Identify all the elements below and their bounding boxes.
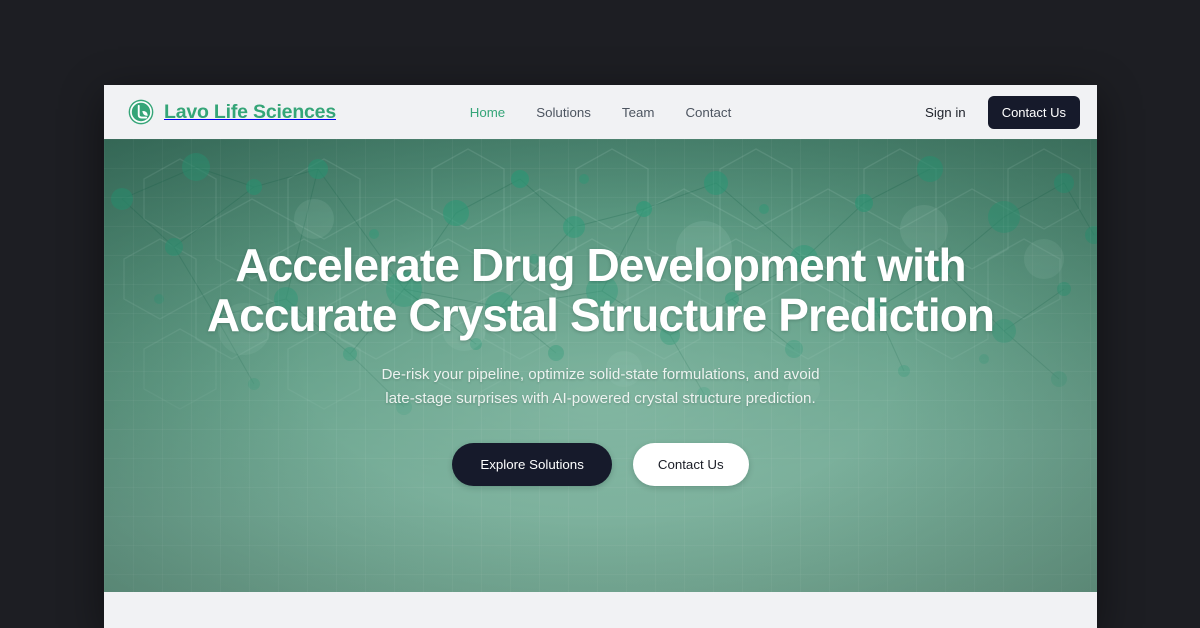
website-preview-card: Lavo Life Sciences Home Solutions Team C… xyxy=(104,85,1097,628)
hero-contact-us-button[interactable]: Contact Us xyxy=(633,443,749,486)
hero-cta-group: Explore Solutions Contact Us xyxy=(452,443,748,486)
hero-subtitle: De-risk your pipeline, optimize solid-st… xyxy=(381,363,819,410)
nav-item-contact[interactable]: Contact xyxy=(685,105,731,120)
sign-in-link[interactable]: Sign in xyxy=(925,105,966,120)
header-contact-us-button[interactable]: Contact Us xyxy=(988,96,1080,129)
site-header: Lavo Life Sciences Home Solutions Team C… xyxy=(104,85,1097,139)
hero-content: Accelerate Drug Development with Accurat… xyxy=(104,139,1097,592)
nav-item-team[interactable]: Team xyxy=(622,105,655,120)
hero-title: Accelerate Drug Development with Accurat… xyxy=(207,240,994,340)
brand-logo-link[interactable]: Lavo Life Sciences xyxy=(128,99,336,125)
nav-item-home[interactable]: Home xyxy=(470,105,505,120)
nav-item-solutions[interactable]: Solutions xyxy=(536,105,591,120)
hero-subtitle-line-1: De-risk your pipeline, optimize solid-st… xyxy=(381,366,819,383)
hero-section: Accelerate Drug Development with Accurat… xyxy=(104,139,1097,592)
header-actions: Sign in Contact Us xyxy=(925,96,1080,129)
hero-subtitle-line-2: late-stage surprises with AI-powered cry… xyxy=(385,390,816,407)
lavo-leaf-circle-logo-icon xyxy=(128,99,154,125)
hero-title-line-1: Accelerate Drug Development with xyxy=(235,239,965,291)
brand-name: Lavo Life Sciences xyxy=(164,101,336,124)
next-section-placeholder xyxy=(104,592,1097,628)
hero-title-line-2: Accurate Crystal Structure Prediction xyxy=(207,289,994,341)
explore-solutions-button[interactable]: Explore Solutions xyxy=(452,443,611,486)
